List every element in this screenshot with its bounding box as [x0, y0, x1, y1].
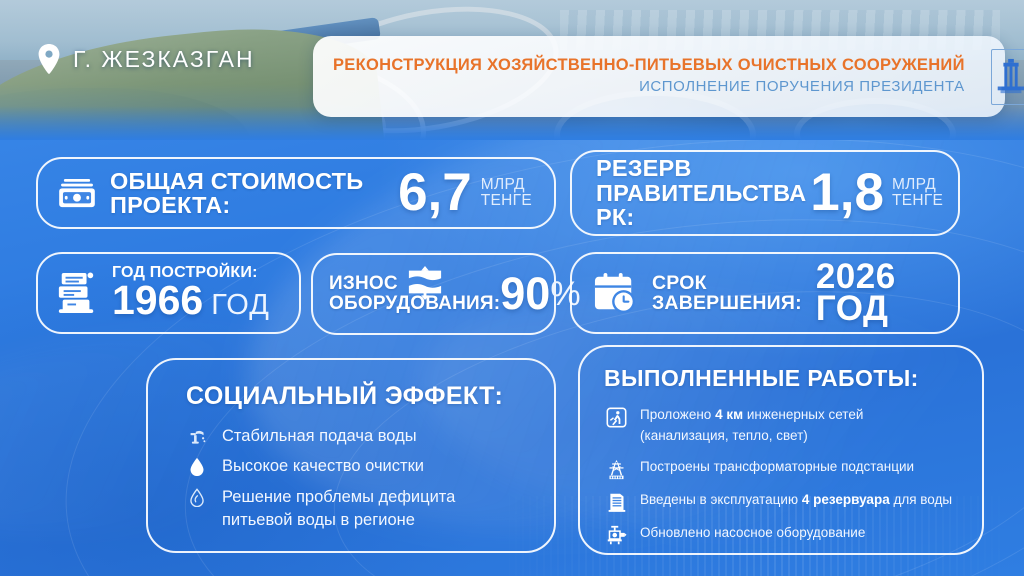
text-post: инженерных сетей — [743, 407, 863, 422]
card-total-cost-value: 6,7 — [398, 169, 472, 218]
banner-title: РЕКОНСТРУКЦИЯ ХОЗЯЙСТВЕННО-ПИТЬЕВЫХ ОЧИС… — [333, 56, 965, 75]
water-drop-filled-icon — [186, 455, 208, 476]
card-build-year-suffix: ГОД — [211, 289, 270, 321]
text-strong: 4 резервуара — [802, 492, 890, 507]
label-line-2: ПРАВИТЕЛЬСТВА РК: — [596, 180, 806, 230]
list-item-text: Обновлено насосное оборудование — [640, 523, 865, 544]
water-pump-icon — [604, 523, 628, 546]
city-label: Г. ЖЕЗКАЗГАН — [38, 44, 255, 74]
city-name: Г. ЖЕЗКАЗГАН — [73, 46, 255, 73]
banner-subtitle: ИСПОЛНЕНИЕ ПОРУЧЕНИЯ ПРЕЗИДЕНТА — [333, 78, 965, 97]
text-pre: Обновлено насосное оборудование — [640, 525, 865, 540]
card-build-year: ГОД ПОСТРОЙКИ: 1966ГОД — [36, 252, 301, 334]
card-completion-term-label: СРОК ЗАВЕРШЕНИЯ: — [652, 273, 802, 314]
card-equipment-wear: ИЗНОС ОБОРУДОВАНИЯ: 90% — [311, 253, 556, 335]
card-government-reserve: РЕЗЕРВ ПРАВИТЕЛЬСТВА РК: 1,8 МЛРД ТЕНГЕ — [570, 150, 960, 236]
text-pre: Введены в эксплуатацию — [640, 492, 802, 507]
list-item: Построены трансформаторные подстанции — [604, 457, 962, 480]
faucet-icon — [186, 425, 208, 446]
title-banner: РЕКОНСТРУКЦИЯ ХОЗЯЙСТВЕННО-ПИТЬЕВЫХ ОЧИС… — [313, 36, 1005, 117]
list-item-text: Решение проблемы дефицита питьевой воды … — [222, 486, 528, 533]
card-build-year-value: 1966 — [112, 277, 203, 323]
unit-line-1: МЛРД — [892, 176, 936, 193]
text-strong: 4 км — [715, 407, 743, 422]
power-pylon-icon — [604, 457, 628, 480]
text-post: для воды — [890, 492, 952, 507]
water-drop-outline-icon — [186, 486, 208, 507]
card-completion-term-value: 2026 ГОД — [816, 261, 942, 325]
list-item: Обновлено насосное оборудование — [604, 523, 962, 546]
list-item: Введены в эксплуатацию 4 резервуара для … — [604, 490, 962, 513]
map-pin-icon — [38, 44, 60, 74]
label-line-1: СРОК — [652, 272, 707, 294]
list-item-text: Стабильная подача воды — [222, 425, 417, 448]
label-line-2: ЗАВЕРШЕНИЯ: — [652, 292, 802, 314]
banner-text-group: РЕКОНСТРУКЦИЯ ХОЗЯЙСТВЕННО-ПИТЬЕВЫХ ОЧИС… — [333, 56, 979, 97]
roadworks-sign-icon — [604, 405, 628, 428]
list-item: Проложено 4 км инженерных сетей (канализ… — [604, 405, 962, 447]
card-government-reserve-unit: МЛРД ТЕНГЕ — [892, 177, 943, 209]
unit-line-1: МЛРД — [481, 176, 525, 193]
banknote-icon — [58, 178, 96, 208]
water-reservoir-icon — [604, 490, 628, 513]
list-item-text: Проложено 4 км инженерных сетей (канализ… — [640, 405, 863, 447]
label-line-1: ИЗНОС — [329, 273, 398, 294]
card-build-year-text-group: ГОД ПОСТРОЙКИ: 1966ГОД — [112, 264, 270, 322]
panel-completed-works-title: ВЫПОЛНЕННЫЕ РАБОТЫ: — [604, 365, 962, 392]
card-equipment-wear-value: 90 — [500, 273, 550, 314]
list-item-text: Построены трансформаторные подстанции — [640, 457, 914, 478]
unit-line-2: ТЕНГЕ — [892, 192, 943, 209]
card-government-reserve-value: 1,8 — [810, 169, 884, 218]
certificate-document-icon — [56, 271, 98, 315]
unit-line-2: ТЕНГЕ — [481, 192, 532, 209]
list-item: Стабильная подача воды — [186, 425, 528, 448]
calendar-clock-icon — [592, 272, 638, 314]
panel-social-effect: СОЦИАЛЬНЫЙ ЭФФЕКТ: Стабильная подача вод… — [146, 358, 556, 553]
card-completion-term: СРОК ЗАВЕРШЕНИЯ: 2026 ГОД — [570, 252, 960, 334]
text-line-2: (канализация, тепло, свет) — [640, 428, 808, 443]
list-item-text: Введены в эксплуатацию 4 резервуара для … — [640, 490, 952, 511]
card-total-cost-unit: МЛРД ТЕНГЕ — [481, 177, 532, 209]
equipment-wear-icon — [403, 265, 447, 301]
government-building-emblem-icon — [991, 49, 1024, 105]
text-pre: Проложено — [640, 407, 715, 422]
card-government-reserve-label: РЕЗЕРВ ПРАВИТЕЛЬСТВА РК: — [596, 156, 806, 229]
card-total-cost: ОБЩАЯ СТОИМОСТЬ ПРОЕКТА: 6,7 МЛРД ТЕНГЕ — [36, 157, 556, 229]
panel-completed-works: ВЫПОЛНЕННЫЕ РАБОТЫ: Проложено 4 км инжен… — [578, 345, 984, 555]
panel-social-effect-title: СОЦИАЛЬНЫЙ ЭФФЕКТ: — [186, 382, 528, 411]
list-item: Высокое качество очистки — [186, 455, 528, 478]
label-line-1: РЕЗЕРВ — [596, 155, 692, 181]
text-pre: Построены трансформаторные подстанции — [640, 459, 914, 474]
list-item: Решение проблемы дефицита питьевой воды … — [186, 486, 528, 533]
list-item-text: Высокое качество очистки — [222, 455, 424, 478]
card-total-cost-label: ОБЩАЯ СТОИМОСТЬ ПРОЕКТА: — [110, 169, 382, 218]
